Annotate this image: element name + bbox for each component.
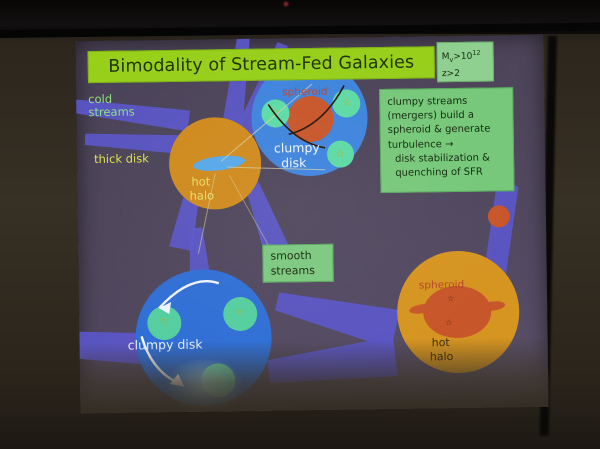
smooth-streams-line1: smooth [270,248,332,264]
note-line-6: quenching of SFR [388,165,506,181]
projected-slide: ☆ ☆ ☆ ☆ ☆ ☆ ☆ ☆ col [75,35,548,413]
connector-line-halo-to-smooth-streams [229,175,270,250]
clumpy-streams-note-box: clumpy streams (mergers) build a spheroi… [379,87,514,193]
smooth-streams-box: smooth streams [262,244,334,283]
slide-title-text: Bimodality of Stream-Fed Galaxies [108,53,414,77]
slide-title-banner: Bimodality of Stream-Fed Galaxies [88,46,435,83]
label-thick-disk: thick disk [94,152,149,166]
label-hot-halo-upper-line1: hot [191,175,210,188]
mass-threshold-line: Mv>1012 [442,46,489,67]
note-line-3: spheroid & generate [388,123,506,139]
note-line-5: disk stabilization & [388,151,506,167]
label-cold-streams-line2: streams [88,105,134,119]
ceiling-red-indicator-light [284,2,288,6]
smooth-streams-line2: streams [271,263,333,279]
label-spheroid-middle: spheroid [282,86,328,100]
screenshot-root: ☆ ☆ ☆ ☆ ☆ ☆ ☆ ☆ col [0,0,600,449]
label-hot-halo-lower-line2: halo [430,350,454,363]
label-clumpy-disk-middle-line1: clumpy [274,141,320,155]
label-spheroid-lower: spheroid [419,279,465,293]
label-clumpy-disk-middle-line2: disk [281,156,306,169]
arrow-head-outflow-upper [159,302,171,314]
connector-line-halo-to-middle-lower [227,166,325,171]
label-hot-halo-lower-line1: hot [432,336,450,349]
label-clumpy-disk-lower: clumpy disk [128,338,203,352]
mass-redshift-box: Mv>1012 z>2 [436,41,494,82]
redshift-line: z>2 [442,66,489,81]
label-hot-halo-upper-line2: halo [190,189,215,202]
